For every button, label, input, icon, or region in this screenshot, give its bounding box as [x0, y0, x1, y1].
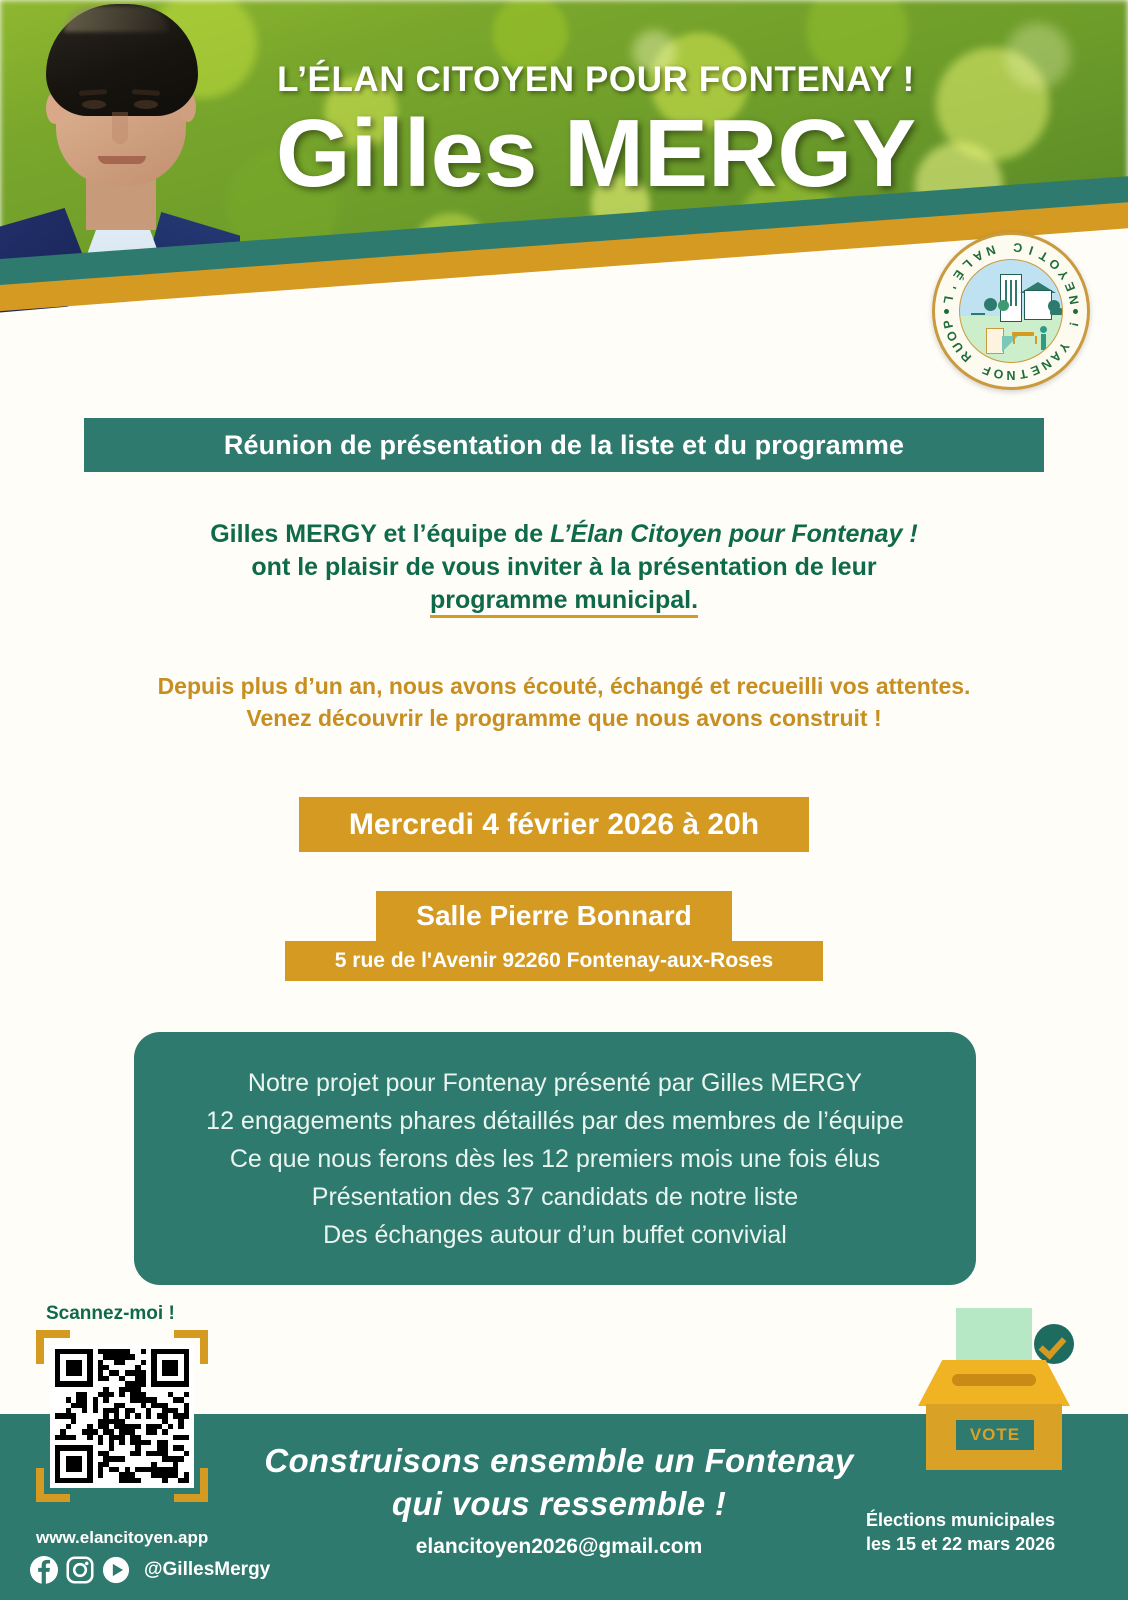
event-venue-badge: Salle Pierre Bonnard [376, 891, 732, 941]
campaign-logo: L'ÉLAN CITOYEN POUR FONTENAY ! [932, 232, 1090, 390]
logo-car-icon [1050, 308, 1063, 315]
ballot-slot [952, 1374, 1036, 1386]
contact-email[interactable]: elancitoyen2026@gmail.com [214, 1535, 904, 1559]
logo-bike-icon [971, 308, 985, 315]
qr-modules [55, 1349, 189, 1483]
program-agenda-box: Notre projet pour Fontenay présenté par … [134, 1032, 976, 1285]
social-handle[interactable]: @GillesMergy [144, 1559, 270, 1581]
event-date: Mercredi 4 février 2026 à 20h [349, 808, 759, 842]
election-dates: Élections municipales les 15 et 22 mars … [866, 1508, 1096, 1557]
event-venue: Salle Pierre Bonnard [416, 900, 691, 932]
logo-tower-icon [1000, 274, 1022, 322]
programme-municipal-underlined: programme municipal. [430, 586, 698, 618]
agenda-item: Ce que nous ferons dès les 12 premiers m… [230, 1141, 880, 1177]
eye-right [134, 100, 158, 109]
banner-kicker: L’ÉLAN CITOYEN POUR FONTENAY ! [196, 60, 996, 100]
event-address: 5 rue de l'Avenir 92260 Fontenay-aux-Ros… [335, 949, 773, 973]
check-mark-icon [1034, 1324, 1074, 1364]
agenda-item: Présentation des 37 candidats de notre l… [312, 1179, 798, 1215]
hair [46, 4, 198, 116]
mouth [98, 156, 146, 164]
event-address-badge: 5 rue de l'Avenir 92260 Fontenay-aux-Ros… [285, 941, 823, 981]
slogan-line-1: Construisons ensemble un Fontenay [214, 1440, 904, 1483]
agenda-item: 12 engagements phares détaillés par des … [206, 1103, 904, 1139]
election-line-2: les 15 et 22 mars 2026 [866, 1532, 1096, 1556]
invitation-line-2: ont le plaisir de vous inviter à la prés… [64, 551, 1064, 584]
ballot-label-plate: VOTE [956, 1420, 1034, 1450]
listening-line-1: Depuis plus d’un an, nous avons écouté, … [44, 670, 1084, 702]
agenda-item: Des échanges autour d’un buffet convivia… [323, 1217, 787, 1253]
youtube-icon[interactable] [102, 1556, 130, 1584]
logo-person-icon [1040, 326, 1047, 333]
qr-code-block[interactable] [36, 1330, 208, 1502]
logo-tree-icon [984, 298, 997, 311]
election-line-1: Élections municipales [866, 1508, 1096, 1532]
meeting-title-bar: Réunion de présentation de la liste et d… [84, 418, 1044, 472]
event-date-badge: Mercredi 4 février 2026 à 20h [299, 797, 809, 852]
campaign-poster: L’ÉLAN CITOYEN POUR FONTENAY ! Gilles ME… [0, 0, 1128, 1600]
meeting-title: Réunion de présentation de la liste et d… [224, 430, 904, 461]
campaign-slogan: Construisons ensemble un Fontenay qui vo… [214, 1440, 904, 1526]
ballot-label: VOTE [970, 1425, 1020, 1445]
facebook-icon[interactable] [30, 1556, 58, 1584]
social-links: @GillesMergy [30, 1556, 270, 1584]
invitation-line-1: Gilles MERGY et l’équipe de L’Élan Citoy… [64, 518, 1064, 551]
logo-tree-icon [998, 300, 1009, 311]
listening-message: Depuis plus d’un an, nous avons écouté, … [44, 670, 1084, 734]
nose [112, 112, 128, 144]
logo-dog-icon [1052, 344, 1060, 350]
logo-bench-icon [1012, 332, 1034, 336]
invitation-line-3: programme municipal. [64, 584, 1064, 617]
candidate-name: Gilles MERGY [196, 106, 996, 202]
scan-me-label: Scannez-moi ! [46, 1303, 175, 1325]
logo-dot-left [944, 309, 949, 314]
eye-left [82, 100, 106, 109]
website-url[interactable]: www.elancitoyen.app [36, 1528, 208, 1548]
invitation-line-1-plain: Gilles MERGY et l’équipe de [210, 520, 550, 548]
list-name-italic: L’Élan Citoyen pour Fontenay ! [550, 520, 918, 548]
agenda-item: Notre projet pour Fontenay présenté par … [248, 1065, 862, 1101]
listening-line-2: Venez découvrir le programme que nous av… [44, 702, 1084, 734]
qr-code-icon[interactable] [50, 1344, 194, 1488]
invitation-text: Gilles MERGY et l’équipe de L’Élan Citoy… [64, 518, 1064, 617]
ballot-box-icon: VOTE [900, 1308, 1080, 1448]
logo-dot-right [1073, 309, 1078, 314]
instagram-icon[interactable] [66, 1556, 94, 1584]
logo-illustration [959, 259, 1063, 363]
slogan-line-2: qui vous ressemble ! [214, 1483, 904, 1526]
